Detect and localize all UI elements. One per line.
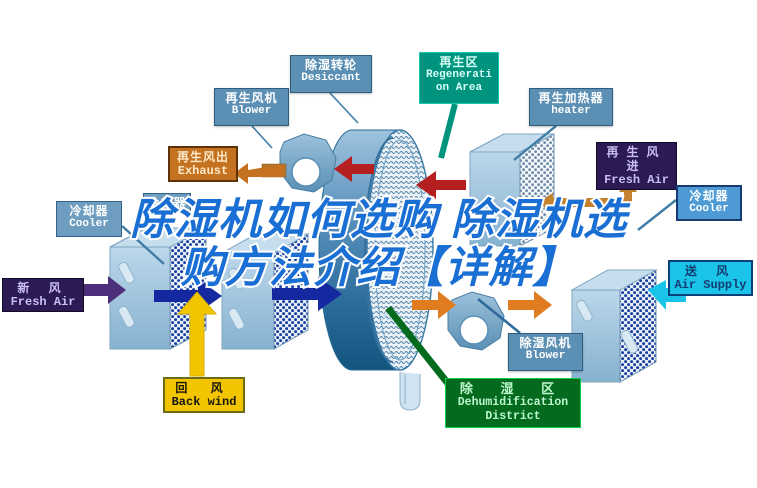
label-exhaust-cn: 再生风出	[173, 150, 233, 164]
label-desiccant-wheel-en: Desiccant	[294, 72, 368, 85]
label-regen-fresh-air: 再生风进Fresh Air	[596, 142, 677, 190]
label-dehum-district: 除 湿 区Dehumidification District	[445, 378, 581, 428]
exhaust-arrow	[234, 163, 284, 184]
title-line-1: 除湿机如何选购 除湿机选	[0, 196, 757, 244]
label-regen-blower: 再生风机Blower	[214, 88, 289, 126]
dry-air-arrow-2	[508, 291, 552, 319]
label-desiccant-wheel: 除湿转轮Desiccant	[290, 55, 372, 93]
dehum-fan	[448, 292, 504, 350]
label-dehum-district-en: Dehumidification District	[449, 396, 577, 423]
label-exhaust: 再生风出Exhaust	[168, 146, 238, 182]
label-regen-area: 再生区Regenerati on Area	[419, 52, 499, 104]
diagram-canvas: xt	[0, 0, 757, 488]
label-fresh-air-in-en: Fresh Air	[6, 295, 80, 309]
label-regen-heater-en: heater	[533, 105, 609, 118]
label-dehum-blower: 除湿风机Blower	[508, 333, 583, 371]
label-dehum-blower-cn: 除湿风机	[512, 336, 579, 350]
label-exhaust-en: Exhaust	[173, 164, 233, 178]
label-regen-heater-cn: 再生加热器	[533, 91, 609, 105]
label-dehum-blower-en: Blower	[512, 350, 579, 363]
label-regen-blower-en: Blower	[218, 105, 285, 118]
page-title: 除湿机如何选购 除湿机选 购方法介绍【详解】	[0, 196, 757, 292]
label-regen-blower-cn: 再生风机	[218, 91, 285, 105]
label-back-wind-en: Back wind	[168, 395, 240, 409]
label-regen-fresh-air-en: Fresh Air	[600, 173, 673, 187]
label-desiccant-wheel-cn: 除湿转轮	[294, 58, 368, 72]
regen-fan	[262, 134, 336, 192]
label-regen-fresh-air-cn: 再生风进	[600, 145, 673, 173]
condensate-drain	[400, 372, 420, 410]
label-dehum-district-cn: 除 湿 区	[449, 381, 577, 396]
label-regen-area-en: Regenerati on Area	[423, 69, 495, 95]
label-back-wind-cn: 回 风	[168, 381, 240, 395]
label-regen-heater: 再生加热器heater	[529, 88, 613, 126]
label-regen-area-cn: 再生区	[423, 55, 495, 69]
title-line-2: 购方法介绍【详解】	[0, 244, 757, 292]
label-back-wind: 回 风Back wind	[163, 377, 245, 413]
